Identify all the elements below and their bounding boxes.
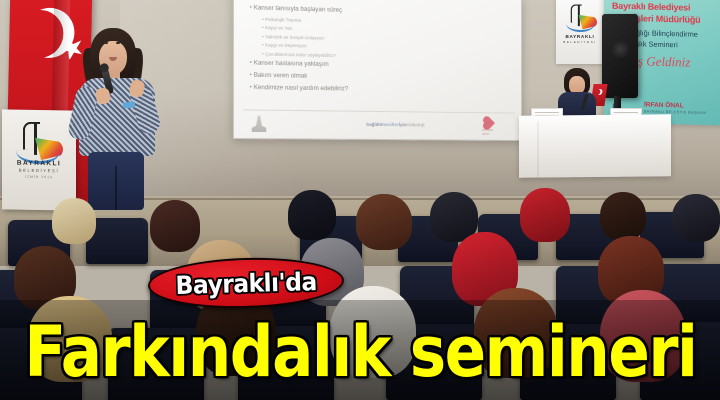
loudspeaker xyxy=(602,14,638,98)
bayrakli-logo-icon xyxy=(564,3,598,35)
audience-head xyxy=(520,188,570,242)
slide-footer-sponsor: SağlıklıNesillerİçinOnkoloji xyxy=(366,122,424,128)
slide-content: Sunum İçeriği Kanser tanısıyla başlayan … xyxy=(245,0,512,100)
slide-footer: SağlıklıNesillerİçinOnkoloji KANSERVAKFI xyxy=(243,109,514,139)
audience-head xyxy=(150,200,200,252)
bayrakli-panel: BAYRAKLI BELEDİYESİ xyxy=(556,0,604,64)
lectern-logo-name: BAYRAKLI xyxy=(2,159,76,167)
news-photo: BAYRAKLI BELEDİYESİ İZMİR 2019 Sunum İçe… xyxy=(0,0,720,400)
head-table xyxy=(519,114,671,178)
panel-logo-subtitle: BELEDİYESİ xyxy=(556,40,604,44)
kicker-label: Bayraklı'da xyxy=(175,267,317,300)
presenter-badge xyxy=(123,101,136,108)
headline: Farkındalık semineri xyxy=(0,308,720,396)
lectern-logo-subtitle: BELEDİYESİ xyxy=(2,167,76,173)
projection-screen: Sunum İçeriği Kanser tanısıyla başlayan … xyxy=(233,0,522,141)
panel-logo-name: BAYRAKLI xyxy=(556,34,604,39)
audience-head xyxy=(288,190,336,240)
headline-label: Farkındalık semineri xyxy=(24,319,696,386)
slide-footer-mark-icon xyxy=(252,116,267,132)
slide-bullet: Kanser hastasına yaklaşım xyxy=(250,59,513,71)
audience-head xyxy=(672,194,720,242)
audience-head xyxy=(600,192,646,240)
banner-sponsor-name: İRFAN ÖNAL xyxy=(644,101,684,109)
slide-bullet: Bakım veren olmak xyxy=(250,72,513,84)
slide-bullet: Kendimize nasıl yardım edebiliriz? xyxy=(250,84,513,95)
slide-footer-heart-icon: KANSERVAKFI xyxy=(484,117,499,133)
banner-line-1: Bayraklı Belediyesi xyxy=(612,1,690,13)
slide-bullet: Kanser tanısıyla başlayan süreç xyxy=(250,4,513,19)
audience-head xyxy=(356,194,412,250)
audience-head xyxy=(52,198,96,244)
